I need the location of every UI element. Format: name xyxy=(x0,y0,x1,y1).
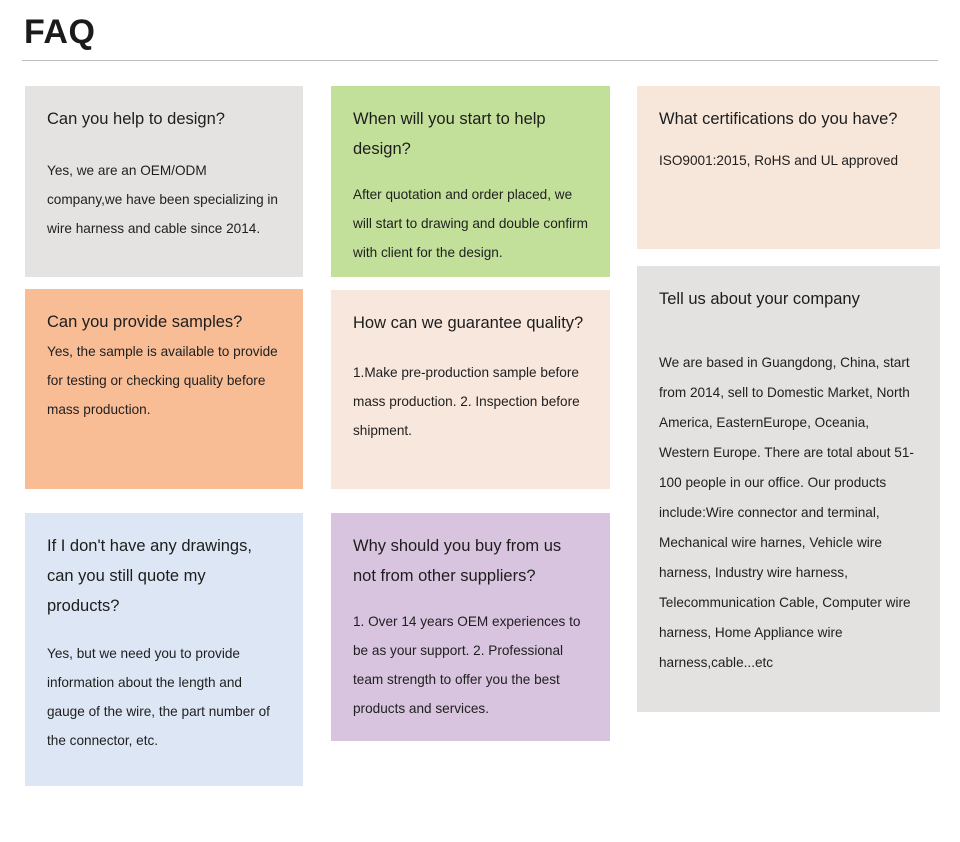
faq-card-what-certifications-do-you-have: What certifications do you have? ISO9001… xyxy=(637,86,940,249)
faq-card-when-will-you-start-to-help-design: When will you start to help design? Afte… xyxy=(331,86,610,277)
faq-card-tell-us-about-your-company: Tell us about your company We are based … xyxy=(637,266,940,712)
faq-answer: After quotation and order placed, we wil… xyxy=(353,180,588,267)
faq-question: Can you provide samples? xyxy=(47,307,281,337)
faq-answer: Yes, we are an OEM/ODM company,we have b… xyxy=(47,156,281,243)
faq-card-can-you-provide-samples: Can you provide samples? Yes, the sample… xyxy=(25,289,303,489)
title-divider xyxy=(22,60,938,61)
faq-answer: ISO9001:2015, RoHS and UL approved xyxy=(659,146,918,175)
faq-answer: Yes, but we need you to provide informat… xyxy=(47,639,281,755)
faq-page: FAQ Can you help to design? Yes, we are … xyxy=(0,0,960,842)
faq-question: If I don't have any drawings, can you st… xyxy=(47,531,281,621)
faq-card-can-you-help-to-design: Can you help to design? Yes, we are an O… xyxy=(25,86,303,277)
faq-question: Why should you buy from us not from othe… xyxy=(353,531,588,591)
faq-card-if-i-dont-have-any-drawings: If I don't have any drawings, can you st… xyxy=(25,513,303,786)
faq-answer: Yes, the sample is available to provide … xyxy=(47,337,281,424)
faq-question: What certifications do you have? xyxy=(659,104,918,134)
page-header: FAQ xyxy=(22,10,938,61)
faq-question: Can you help to design? xyxy=(47,104,281,134)
faq-card-why-should-you-buy-from-us: Why should you buy from us not from othe… xyxy=(331,513,610,741)
page-title: FAQ xyxy=(22,10,938,58)
faq-answer: 1. Over 14 years OEM experiences to be a… xyxy=(353,607,588,723)
faq-answer: We are based in Guangdong, China, start … xyxy=(659,348,918,678)
faq-question: How can we guarantee quality? xyxy=(353,308,588,338)
faq-card-how-can-we-guarantee-quality: How can we guarantee quality? 1.Make pre… xyxy=(331,290,610,489)
faq-answer: 1.Make pre-production sample before mass… xyxy=(353,358,588,445)
faq-question: When will you start to help design? xyxy=(353,104,588,164)
faq-question: Tell us about your company xyxy=(659,284,918,314)
